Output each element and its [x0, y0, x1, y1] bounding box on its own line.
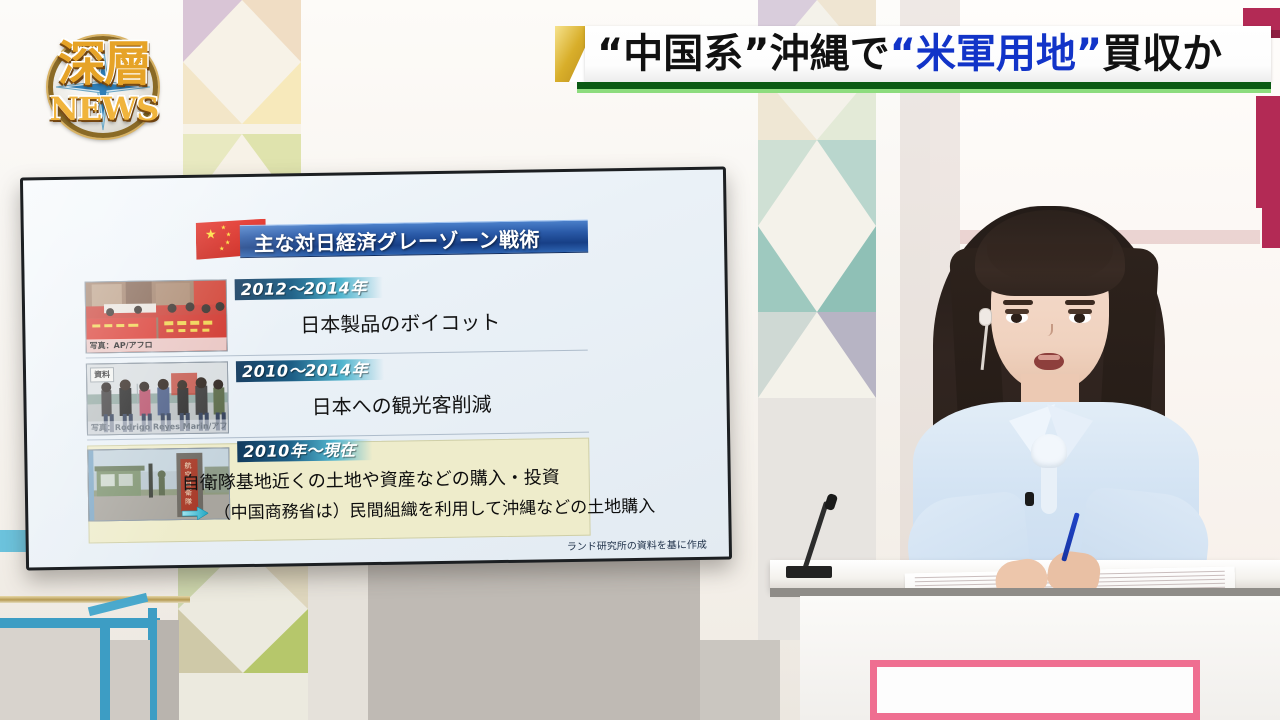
banner-stripe-dark: [577, 82, 1271, 89]
row-1-period: 2012〜2014年: [235, 277, 383, 300]
anchor-eyelid-right: [1068, 309, 1092, 314]
studio-monitor: ★ ★ ★ ★ ★ 主な対日経済グレーゾーン戦術: [20, 166, 732, 570]
headline-part-1: “中国系”沖縄で: [597, 31, 890, 77]
decor-pillar-middle: [758, 0, 876, 640]
slide-row-3: 航空自 衛隊 2010年〜現在 自衛隊基地近くの土地や資産などの購入・投資: [87, 440, 590, 544]
banner-stripe-light: [577, 89, 1271, 93]
decor-floor-tile-f: [700, 640, 780, 720]
decor-floor-tile-b: [110, 640, 150, 720]
slide-title-group: ★ ★ ★ ★ ★ 主な対日経済グレーゾーン戦術: [196, 220, 588, 260]
row-3-body: 2010年〜現在 自衛隊基地近くの土地や資産などの購入・投資 （中国商務省は）民…: [237, 435, 610, 523]
flag-star-3: ★: [225, 240, 230, 246]
row-1-body: 2012〜2014年 日本製品のボイコット: [235, 274, 588, 340]
headline-part-blue: “米軍用地”: [890, 31, 1103, 77]
slide-row-2: 資料 写真：Rodrigo Reyes Marin/アフロ 2010〜2014年…: [86, 356, 589, 440]
logo-kanji-text: 深層: [48, 34, 160, 96]
lapel-microphone: [1025, 492, 1034, 506]
arrow-right-icon: [182, 507, 208, 520]
headline-text: “中国系”沖縄で“米軍用地”買収か: [597, 27, 1271, 82]
headline-banner: “中国系”沖縄で“米軍用地”買収か: [555, 26, 1271, 88]
broadcast-frame: 深層 NEWS “中国系”沖縄で“米軍用地”買収か ★ ★ ★ ★ ★ 主な対日…: [0, 0, 1280, 720]
decor-blue-frame-h1: [0, 618, 160, 628]
row-1-photo-caption: 写真：AP/アフロ: [87, 337, 227, 352]
row-3-subtext-line: （中国商務省は）民間組織を利用して沖縄などの土地購入: [182, 492, 610, 524]
desk-microphone-base: [786, 566, 832, 578]
row-2-photo-caption: 写真：Rodrigo Reyes Marin/アフロ: [88, 419, 228, 434]
flag-star-4: ★: [219, 246, 224, 252]
headline-part-2: 買収か: [1102, 31, 1222, 77]
anchor-brow-right: [1065, 300, 1095, 305]
slide-row-1: 写真：AP/アフロ 2012〜2014年 日本製品のボイコット: [85, 274, 588, 358]
anchor-bow-tail: [1041, 462, 1057, 514]
row-3-text: 自衛隊基地近くの土地や資産などの購入・投資: [182, 462, 610, 495]
row-1-text: 日本製品のボイコット: [235, 305, 587, 340]
row-2-period: 2010〜2014年: [236, 359, 384, 382]
row-2-photo-badge: 資料: [90, 367, 114, 382]
row-2-text: 日本への観光客削減: [236, 387, 588, 422]
logo-news-text: NEWS: [40, 90, 168, 128]
desk-pink-frame: [870, 660, 1200, 720]
anchor-eyelid-left: [1005, 309, 1029, 314]
row-3-subtext: （中国商務省は）民間組織を利用して沖縄などの土地購入: [214, 497, 656, 524]
row-2-photo: 資料 写真：Rodrigo Reyes Marin/アフロ: [86, 361, 229, 435]
row-3-period: 2010年〜現在: [237, 439, 372, 462]
decor-floor-tile-d: [308, 548, 368, 720]
flag-star-large: ★: [205, 227, 217, 240]
decor-floor-tile-a: [0, 628, 100, 720]
decor-frame-crimson-vertical: [1256, 96, 1280, 208]
decor-floor-tile-e: [368, 548, 700, 720]
slide-source-note: ランド研究所の資料を基に作成: [567, 536, 707, 553]
decor-floor-panel: [178, 545, 308, 720]
decor-floor-tile-c: [157, 620, 179, 720]
flag-star-1: ★: [221, 225, 226, 231]
anchor-mouth: [1034, 353, 1064, 370]
slide-title-bar: 主な対日経済グレーゾーン戦術: [240, 220, 588, 258]
row-1-photo: 写真：AP/アフロ: [85, 279, 228, 353]
decor-gold-rail: [0, 596, 190, 603]
anchor-brow-left: [1003, 300, 1033, 305]
program-logo: 深層 NEWS: [40, 28, 172, 146]
decor-blue-frame-v1: [100, 618, 110, 720]
news-anchor: [905, 196, 1205, 596]
row-2-body: 2010〜2014年 日本への観光客削減: [236, 356, 589, 422]
monitor-screen: ★ ★ ★ ★ ★ 主な対日経済グレーゾーン戦術: [23, 170, 729, 568]
slide-title-text: 主な対日経済グレーゾーン戦術: [240, 221, 588, 257]
decor-frame-crimson-foot: [1262, 208, 1280, 248]
flag-star-2: ★: [226, 232, 231, 238]
anchor-bow-knot: [1031, 434, 1067, 468]
